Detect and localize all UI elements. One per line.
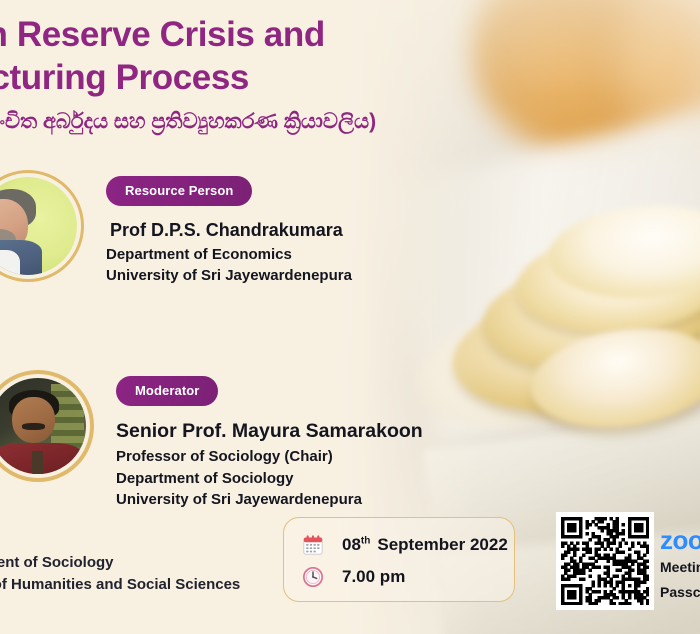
schedule-date-row: 08thSeptember 2022 <box>302 529 514 561</box>
qr-code-image <box>561 517 649 605</box>
badge-resource-person: Resource Person <box>106 176 252 206</box>
zoom-join-block: zoom Meeting ID Passcode <box>660 527 700 603</box>
avatar-tie <box>32 451 43 474</box>
badge-moderator: Moderator <box>116 376 218 406</box>
schedule-time-row: 7.00 pm <box>302 561 514 593</box>
zoom-meeting-id: Meeting ID <box>660 557 700 578</box>
schedule-card: 08thSeptember 2022 7.00 pm <box>283 517 515 602</box>
title-subtitle-sinhala: (විදේශ සංචිත අර්බුදය සහ ප්‍රතිව්‍යුහකරණ … <box>0 108 538 135</box>
zoom-logo: zoom <box>660 527 700 553</box>
speaker-affiliation-line-2: University of Sri Jayewardenepura <box>106 265 352 286</box>
speaker-name: Senior Prof. Mayura Samarakoon <box>116 419 423 443</box>
schedule-date-rest: September 2022 <box>377 535 507 554</box>
speaker-affiliation-line-1: Professor of Sociology (Chair) <box>116 446 423 467</box>
avatar-face <box>12 397 55 443</box>
speaker-moderator: Moderator Senior Prof. Mayura Samarakoon… <box>0 370 423 510</box>
speaker-name: Prof D.P.S. Chandrakumara <box>110 219 352 242</box>
zoom-passcode: Passcode <box>660 582 700 603</box>
avatar-moderator <box>0 370 94 482</box>
poster-title: Foreign Reserve Crisis and Restructuring… <box>0 14 442 99</box>
avatar-image <box>0 378 86 474</box>
speaker-affiliation-line-2: Department of Sociology <box>116 468 423 489</box>
organiser-line-2: Faculty of Humanities and Social Science… <box>0 574 240 596</box>
schedule-date-ordinal: th <box>361 535 370 546</box>
calendar-icon <box>302 534 328 556</box>
avatar-resource-person <box>0 170 84 282</box>
speaker-resource-person: Resource Person Prof D.P.S. Chandrakumar… <box>0 170 352 286</box>
avatar-background-shelf <box>51 384 84 447</box>
qr-code[interactable] <box>556 512 654 610</box>
organiser-block: Department of Sociology Faculty of Human… <box>0 552 240 596</box>
speaker-details: Moderator Senior Prof. Mayura Samarakoon… <box>116 370 423 510</box>
webinar-poster: Foreign Reserve Crisis and Restructuring… <box>0 0 700 634</box>
clock-icon <box>302 566 328 588</box>
schedule-date-text: 08thSeptember 2022 <box>342 535 508 555</box>
title-line-1: Foreign Reserve Crisis and <box>0 14 442 57</box>
schedule-date-day: 08 <box>342 535 361 554</box>
avatar-moustache <box>22 423 45 430</box>
speaker-affiliation-line-3: University of Sri Jayewardenepura <box>116 489 423 510</box>
avatar-image <box>0 177 77 275</box>
organiser-line-1: Department of Sociology <box>0 552 240 574</box>
speaker-affiliation-line-1: Department of Economics <box>106 244 352 265</box>
schedule-time-text: 7.00 pm <box>342 567 405 587</box>
speaker-details: Resource Person Prof D.P.S. Chandrakumar… <box>106 170 352 286</box>
title-line-2: Restructuring Process <box>0 57 442 100</box>
